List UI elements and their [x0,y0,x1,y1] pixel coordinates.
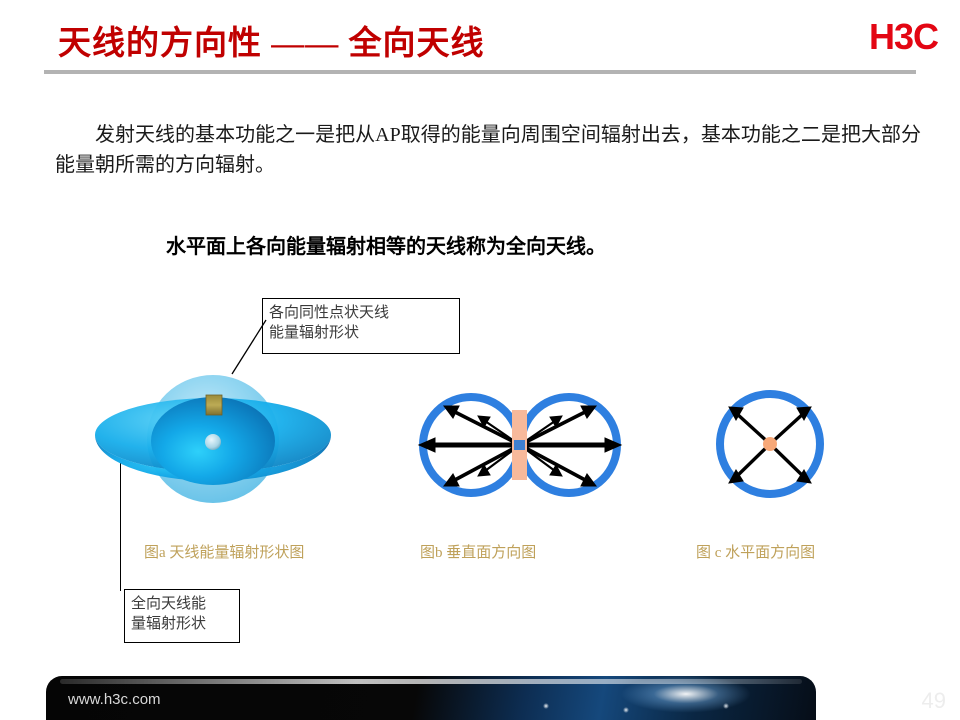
caption-figure-c: 图 c 水平面方向图 [696,541,815,562]
caption-figure-a: 图a 天线能量辐射形状图 [144,541,304,562]
callout-isotropic-line1: 各向同性点状天线 [269,303,453,323]
antenna-element [206,395,222,415]
header-divider [44,70,916,74]
point-source [205,434,221,450]
intro-paragraph: 发射天线的基本功能之一是把从AP取得的能量向周围空间辐射出去，基本功能之二是把大… [55,120,921,180]
page-number: 49 [922,688,946,714]
page-badge-gloss [864,679,958,684]
callout-isotropic-line2: 能量辐射形状 [269,323,453,343]
page-number-badge: 49 [852,676,960,720]
page-title: 天线的方向性 —— 全向天线 [58,16,485,64]
callout-isotropic-antenna: 各向同性点状天线 能量辐射形状 [262,298,460,354]
h3c-logo: H3C [869,16,938,58]
footer-url[interactable]: www.h3c.com [68,691,161,708]
slide-header: 天线的方向性 —— 全向天线 H3C [0,0,960,78]
callout-omni-antenna: 全向天线能 量辐射形状 [124,589,240,643]
antenna-point-horizontal [763,437,777,451]
figures-row [0,355,960,530]
footer-bar-gloss [60,679,802,684]
caption-figure-b: 图b 垂直面方向图 [420,541,536,562]
callout-omni-line2: 量辐射形状 [131,614,233,634]
highlight-statement: 水平面上各向能量辐射相等的天线称为全向天线。 [166,230,606,259]
antenna-feed-point [514,440,525,450]
figure-b-vertical-pattern [405,385,635,505]
slide-footer: www.h3c.com 49 [0,668,960,720]
callout-omni-line1: 全向天线能 [131,594,233,614]
figure-c-horizontal-pattern [710,387,830,502]
footer-bar: www.h3c.com [46,676,816,720]
figure-a-3d-radiation-shape [88,355,338,530]
